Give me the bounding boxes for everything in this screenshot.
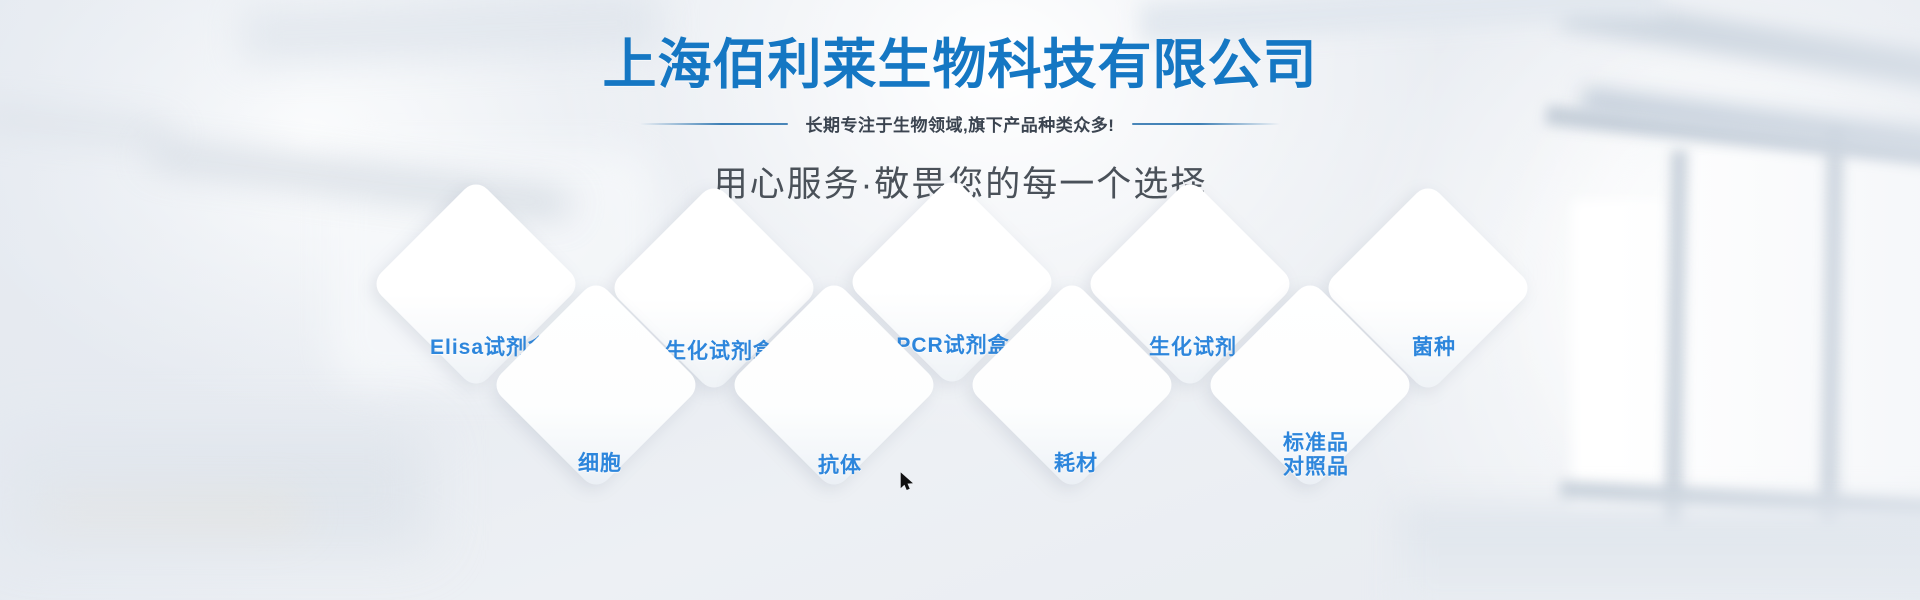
category-tile-label: 菌种 [1412,336,1456,360]
category-tile-label: 耗材 [1054,452,1098,476]
category-tile-label: 标准品对照品 [1283,431,1349,478]
hero-banner: 上海佰利莱生物科技有限公司 长期专注于生物领域,旗下产品种类众多! 用心服务·敬… [0,0,1920,600]
category-tile-label: 细胞 [578,452,622,476]
category-tile-grid: Elisa试剂盒生化试剂盒PCR试剂盒生化试剂菌种细胞抗体耗材标准品对照品 [0,0,1920,600]
category-tile-label: PCR试剂盒 [896,334,1009,358]
category-tile-label: 生化试剂 [1149,336,1237,360]
category-tile-label: 抗体 [818,454,862,478]
